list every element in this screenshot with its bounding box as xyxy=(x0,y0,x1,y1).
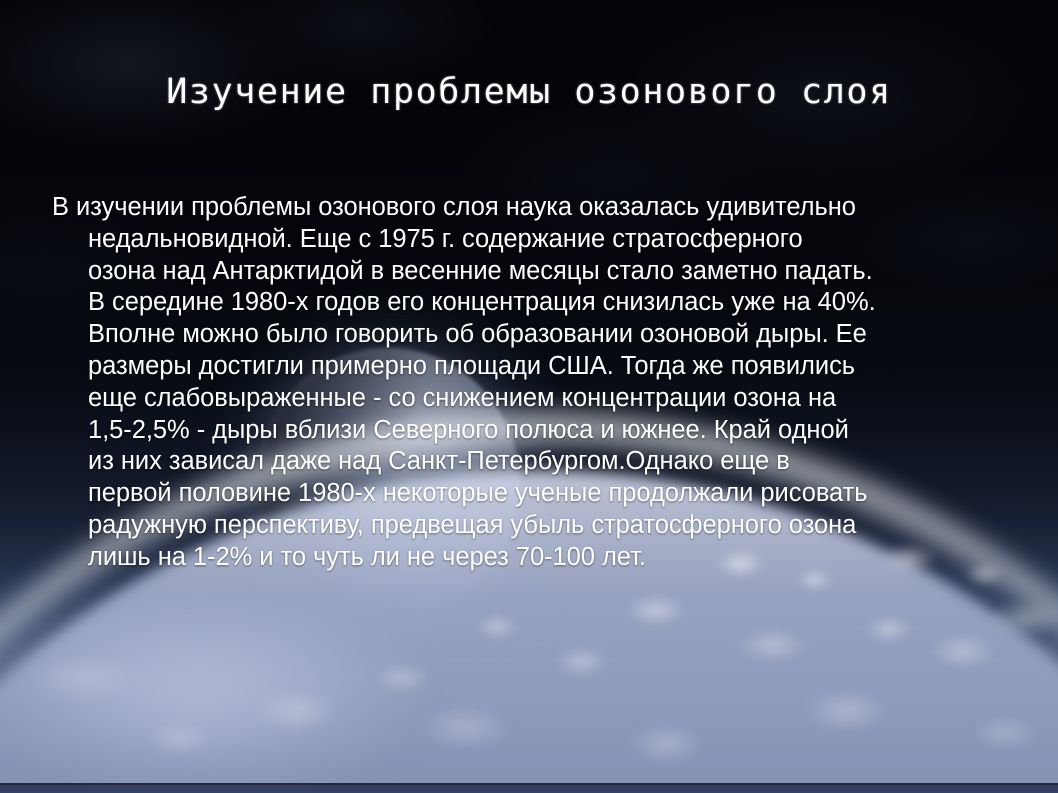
body-line: радужную перспективу, предвещая убыль ст… xyxy=(52,510,1012,542)
body-line: 1,5-2,5% - дыры вблизи Северного полюса … xyxy=(52,415,1012,447)
body-line: еще слабовыраженные - со снижением конце… xyxy=(52,383,1012,415)
slide-content: Изучение проблемы озонового слоя В изуче… xyxy=(0,0,1058,793)
body-line: В середине 1980-х годов его концентрация… xyxy=(52,287,1012,319)
presentation-slide: Изучение проблемы озонового слоя В изуче… xyxy=(0,0,1058,793)
body-line: размеры достигли примерно площади США. Т… xyxy=(52,351,1012,383)
body-line: недальновидной. Еще с 1975 г. содержание… xyxy=(52,224,1012,256)
body-line: В изучении проблемы озонового слоя наука… xyxy=(52,192,1012,224)
slide-body-text: В изучении проблемы озонового слоя наука… xyxy=(52,192,1012,574)
body-line: первой половине 1980-х некоторые ученые … xyxy=(52,478,1012,510)
body-line: Вполне можно было говорить об образовани… xyxy=(52,319,1012,351)
body-line: озона над Антарктидой в весенние месяцы … xyxy=(52,256,1012,288)
body-line: из них зависал даже над Санкт-Петербурго… xyxy=(52,446,1012,478)
body-line: лишь на 1-2% и то чуть ли не через 70-10… xyxy=(52,542,1012,574)
slide-title: Изучение проблемы озонового слоя xyxy=(0,72,1058,112)
